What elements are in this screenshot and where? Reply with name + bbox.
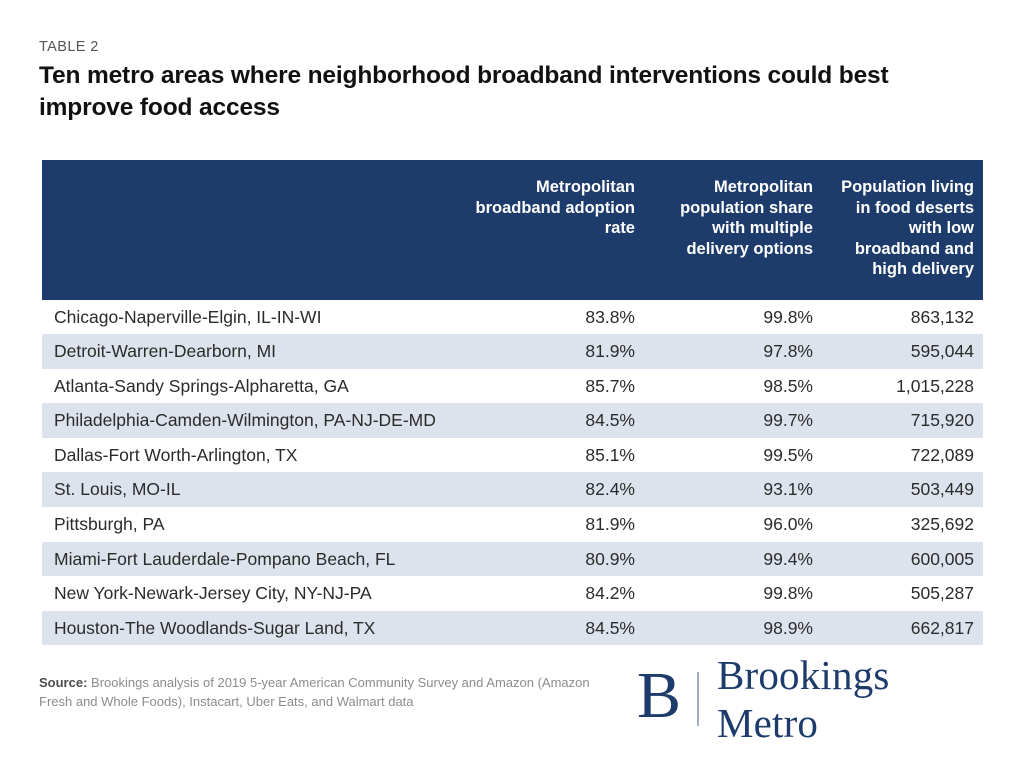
cell-metro: Dallas-Fort Worth-Arlington, TX <box>42 438 467 473</box>
table-row: St. Louis, MO-IL 82.4% 93.1% 503,449 <box>42 472 983 507</box>
cell-delivery-share: 99.7% <box>653 403 831 438</box>
cell-adoption-rate: 81.9% <box>467 334 653 369</box>
table-row: Miami-Fort Lauderdale-Pompano Beach, FL … <box>42 542 983 577</box>
cell-metro: Houston-The Woodlands-Sugar Land, TX <box>42 611 467 646</box>
figure-eyebrow-label: TABLE 2 <box>39 38 99 56</box>
table-row: Chicago-Naperville-Elgin, IL-IN-WI 83.8%… <box>42 300 983 335</box>
cell-metro: Atlanta-Sandy Springs-Alpharetta, GA <box>42 369 467 404</box>
source-note: Source: Brookings analysis of 2019 5-yea… <box>39 673 599 711</box>
cell-adoption-rate: 84.2% <box>467 576 653 611</box>
cell-adoption-rate: 85.1% <box>467 438 653 473</box>
cell-adoption-rate: 84.5% <box>467 403 653 438</box>
cell-adoption-rate: 83.8% <box>467 300 653 335</box>
cell-adoption-rate: 81.9% <box>467 507 653 542</box>
cell-metro: Miami-Fort Lauderdale-Pompano Beach, FL <box>42 542 467 577</box>
cell-food-desert-population: 505,287 <box>831 576 983 611</box>
metro-broadband-table: Metropolitan broadband adoption rate Met… <box>42 160 983 645</box>
table-header: Metropolitan broadband adoption rate Met… <box>42 160 983 300</box>
column-header-metro <box>42 160 467 300</box>
cell-food-desert-population: 1,015,228 <box>831 369 983 404</box>
cell-delivery-share: 99.5% <box>653 438 831 473</box>
cell-food-desert-population: 503,449 <box>831 472 983 507</box>
cell-food-desert-population: 722,089 <box>831 438 983 473</box>
cell-metro: Philadelphia-Camden-Wilmington, PA-NJ-DE… <box>42 403 467 438</box>
cell-delivery-share: 99.8% <box>653 300 831 335</box>
brookings-metro-logo: B Brookings Metro <box>637 666 987 732</box>
cell-food-desert-population: 325,692 <box>831 507 983 542</box>
column-header-delivery-share: Metropolitan population share with multi… <box>653 160 831 300</box>
table-row: Houston-The Woodlands-Sugar Land, TX 84.… <box>42 611 983 646</box>
page-title: Ten metro areas where neighborhood broad… <box>39 60 969 124</box>
cell-adoption-rate: 82.4% <box>467 472 653 507</box>
cell-food-desert-population: 662,817 <box>831 611 983 646</box>
cell-metro: Detroit-Warren-Dearborn, MI <box>42 334 467 369</box>
source-text: Brookings analysis of 2019 5-year Americ… <box>39 675 590 709</box>
column-header-adoption-rate: Metropolitan broadband adoption rate <box>467 160 653 300</box>
cell-adoption-rate: 80.9% <box>467 542 653 577</box>
table-header-row: Metropolitan broadband adoption rate Met… <box>42 160 983 300</box>
table-body: Chicago-Naperville-Elgin, IL-IN-WI 83.8%… <box>42 300 983 646</box>
cell-delivery-share: 98.5% <box>653 369 831 404</box>
table-figure: TABLE 2 Ten metro areas where neighborho… <box>0 0 1024 763</box>
table-row: Atlanta-Sandy Springs-Alpharetta, GA 85.… <box>42 369 983 404</box>
cell-metro: Chicago-Naperville-Elgin, IL-IN-WI <box>42 300 467 335</box>
cell-delivery-share: 99.8% <box>653 576 831 611</box>
cell-adoption-rate: 85.7% <box>467 369 653 404</box>
cell-food-desert-population: 600,005 <box>831 542 983 577</box>
table-row: New York-Newark-Jersey City, NY-NJ-PA 84… <box>42 576 983 611</box>
cell-adoption-rate: 84.5% <box>467 611 653 646</box>
table-row: Philadelphia-Camden-Wilmington, PA-NJ-DE… <box>42 403 983 438</box>
table-row: Pittsburgh, PA 81.9% 96.0% 325,692 <box>42 507 983 542</box>
table-row: Detroit-Warren-Dearborn, MI 81.9% 97.8% … <box>42 334 983 369</box>
source-label: Source: <box>39 675 87 690</box>
cell-food-desert-population: 863,132 <box>831 300 983 335</box>
logo-wordmark: Brookings Metro <box>717 651 987 747</box>
table-row: Dallas-Fort Worth-Arlington, TX 85.1% 99… <box>42 438 983 473</box>
cell-food-desert-population: 595,044 <box>831 334 983 369</box>
cell-metro: New York-Newark-Jersey City, NY-NJ-PA <box>42 576 467 611</box>
cell-delivery-share: 97.8% <box>653 334 831 369</box>
cell-food-desert-population: 715,920 <box>831 403 983 438</box>
data-table-container: Metropolitan broadband adoption rate Met… <box>42 160 983 645</box>
cell-delivery-share: 93.1% <box>653 472 831 507</box>
cell-metro: Pittsburgh, PA <box>42 507 467 542</box>
cell-delivery-share: 98.9% <box>653 611 831 646</box>
logo-divider <box>697 672 699 726</box>
cell-metro: St. Louis, MO-IL <box>42 472 467 507</box>
cell-delivery-share: 96.0% <box>653 507 831 542</box>
column-header-food-desert-population: Population living in food deserts with l… <box>831 160 983 300</box>
brookings-b-mark-icon: B <box>637 663 697 729</box>
cell-delivery-share: 99.4% <box>653 542 831 577</box>
